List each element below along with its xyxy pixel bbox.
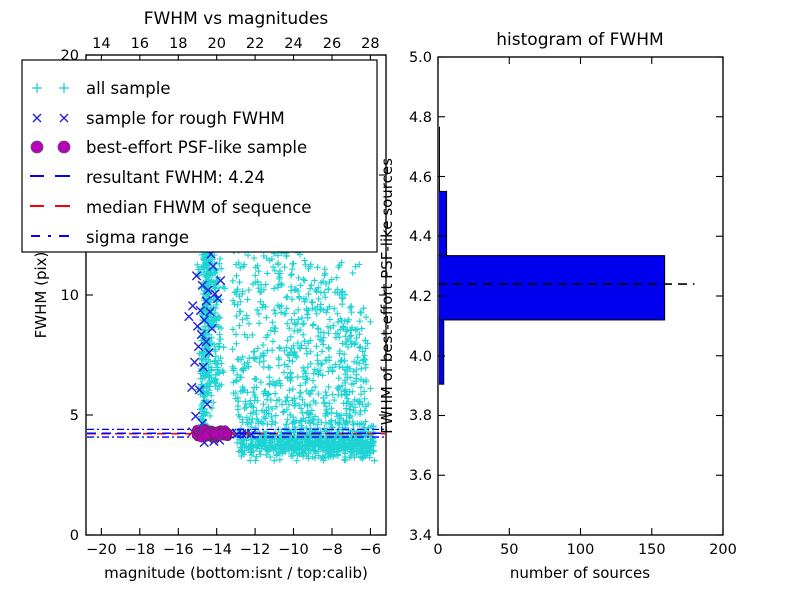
histogram-ylabel: FWHM of best-effort PSF-like sources xyxy=(378,158,396,434)
bottom-axis-ticks xyxy=(101,528,370,535)
top-tick-label: 22 xyxy=(246,36,264,52)
legend-label: median FHWM of sequence xyxy=(86,198,311,217)
hist-y-tick-label: 4.4 xyxy=(409,229,432,245)
hist-x-tick-label: 0 xyxy=(433,542,442,558)
scatter-y-tick-label: 10 xyxy=(61,288,79,304)
histogram-title: histogram of FWHM xyxy=(496,30,663,50)
bottom-tick-label: −12 xyxy=(240,542,271,558)
figure-canvas: FWHM vs magnitudes 14 16 18 20 xyxy=(0,0,800,600)
bottom-tick-label: −16 xyxy=(163,542,194,558)
histogram-data-area xyxy=(438,127,695,384)
histogram-xlabel: number of sources xyxy=(510,564,650,582)
scatter-right-ticks xyxy=(379,55,386,535)
scatter-ylabel: FWHM (pix) xyxy=(32,252,50,339)
scatter-xlabel: magnitude (bottom:isnt / top:calib) xyxy=(104,564,368,582)
scatter-top-axis: 14 16 18 20 22 24 26 28 xyxy=(92,36,379,62)
histogram-panel: histogram of FWHM 3.4 3.6 3.8 4.0 4.2 4.… xyxy=(378,30,737,582)
top-tick-label: 16 xyxy=(131,36,149,52)
hist-y-tick-label: 3.8 xyxy=(409,408,432,424)
histogram-left-axis: 3.4 3.6 3.8 4.0 4.2 4.4 4.6 4.8 5.0 FWHM… xyxy=(378,50,445,544)
histogram-bars xyxy=(438,127,665,384)
top-tick-label: 18 xyxy=(169,36,187,52)
hist-y-tick-label: 4.6 xyxy=(409,170,432,186)
hist-y-tick-label: 3.6 xyxy=(409,468,432,484)
hist-y-tick-label: 4.8 xyxy=(409,110,432,126)
histogram-bar xyxy=(438,256,665,320)
hist-x-tick-label: 100 xyxy=(567,542,595,558)
bottom-tick-label: −10 xyxy=(278,542,309,558)
bottom-tick-label: −18 xyxy=(124,542,155,558)
top-tick-label: 28 xyxy=(361,36,379,52)
scatter-title: FWHM vs magnitudes xyxy=(144,9,329,29)
bottom-tick-label: −14 xyxy=(201,542,232,558)
top-tick-label: 14 xyxy=(92,36,110,52)
histogram-bar xyxy=(438,191,447,255)
legend-label: resultant FWHM: 4.24 xyxy=(86,168,265,187)
legend-label: all sample xyxy=(86,79,171,98)
top-tick-label: 20 xyxy=(207,36,225,52)
series-psf-like-markers xyxy=(192,424,233,442)
scatter-y-tick-label: 0 xyxy=(70,528,79,544)
histogram-bottom-axis: 0 50 100 150 200 number of sources xyxy=(433,528,736,582)
bottom-tick-label: −8 xyxy=(321,542,342,558)
top-tick-label: 26 xyxy=(323,36,341,52)
hist-y-tick-label: 5.0 xyxy=(409,50,432,66)
hist-y-tick-label: 4.2 xyxy=(409,289,432,305)
hist-y-tick-label: 4.0 xyxy=(409,349,432,365)
histogram-bar xyxy=(438,320,444,384)
legend-label: best-effort PSF-like sample xyxy=(86,138,307,157)
top-tick-label: 24 xyxy=(284,36,302,52)
legend: all sample sample for rough FWHM best-ef… xyxy=(22,60,377,252)
bottom-tick-label: −6 xyxy=(360,542,381,558)
bottom-tick-label: −20 xyxy=(86,542,117,558)
legend-label: sample for rough FWHM xyxy=(86,109,285,128)
hist-x-tick-label: 200 xyxy=(709,542,737,558)
hist-x-tick-label: 50 xyxy=(500,542,518,558)
scatter-data-area xyxy=(87,225,385,463)
hist-y-tick-label: 3.4 xyxy=(409,528,432,544)
matplotlib-figure: FWHM vs magnitudes 14 16 18 20 xyxy=(0,0,800,600)
scatter-bottom-axis: −20 −18 −16 −14 −12 −10 −8 −6 magnitude … xyxy=(86,528,381,582)
legend-label: sigma range xyxy=(86,228,189,247)
hist-x-tick-label: 150 xyxy=(638,542,666,558)
scatter-y-tick-label: 5 xyxy=(70,408,79,424)
